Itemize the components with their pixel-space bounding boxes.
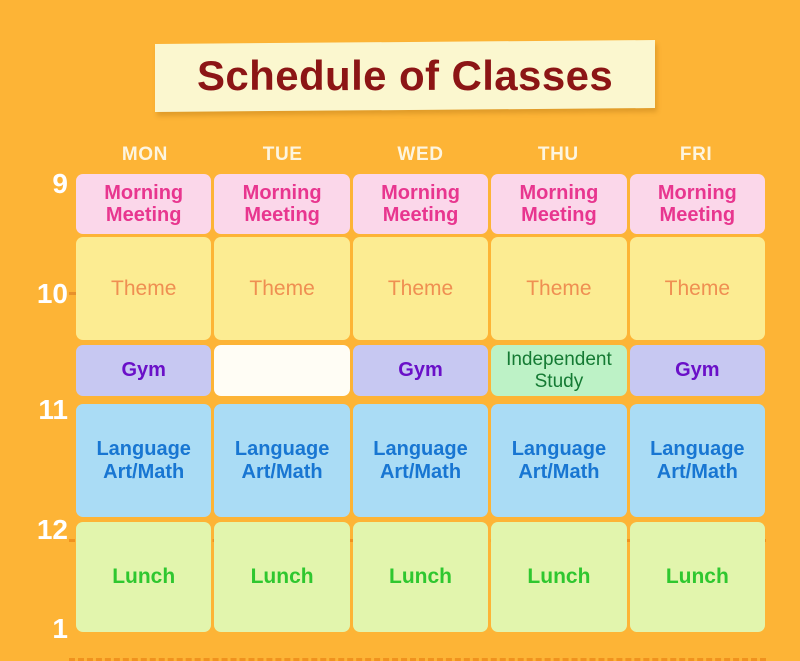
slot-label-line2: Art/Math: [103, 461, 184, 483]
slot-mon-gym[interactable]: Gym: [76, 345, 211, 396]
schedule-row-gym: Gym Gym Independent Study Gym: [76, 345, 765, 396]
hour-label-1: 1: [0, 615, 68, 643]
slot-mon-language-art-math[interactable]: Language Art/Math: [76, 404, 211, 517]
slot-thu-theme[interactable]: Theme: [491, 237, 626, 340]
slot-label-line1: Lunch: [527, 565, 590, 589]
slot-wed-language-art-math[interactable]: Language Art/Math: [353, 404, 488, 517]
slot-label-line2: Meeting: [244, 204, 320, 226]
title-banner: Schedule of Classes: [155, 40, 655, 112]
slot-mon-morning-meeting[interactable]: Morning Meeting: [76, 174, 211, 234]
slot-fri-theme[interactable]: Theme: [630, 237, 765, 340]
slot-label-line1: Morning: [381, 182, 460, 204]
schedule-row-lunch: Lunch Lunch Lunch Lunch Lunch: [76, 522, 765, 632]
slot-label-line1: Lunch: [666, 565, 729, 589]
slot-fri-morning-meeting[interactable]: Morning Meeting: [630, 174, 765, 234]
slot-label-line2: Meeting: [383, 204, 459, 226]
slot-thu-language-art-math[interactable]: Language Art/Math: [491, 404, 626, 517]
schedule-grid: MON TUE WED THU FRI 9 10 11 12 1 Morning…: [0, 140, 800, 632]
hour-label-11: 11: [0, 396, 68, 424]
slot-wed-lunch[interactable]: Lunch: [353, 522, 488, 632]
slot-label-line1: Gym: [121, 359, 165, 381]
slot-thu-lunch[interactable]: Lunch: [491, 522, 626, 632]
slot-fri-gym[interactable]: Gym: [630, 345, 765, 396]
slot-label-line1: Morning: [104, 182, 183, 204]
slot-thu-morning-meeting[interactable]: Morning Meeting: [491, 174, 626, 234]
slot-mon-theme[interactable]: Theme: [76, 237, 211, 340]
slot-label-line1: Language: [650, 438, 744, 460]
slot-mon-lunch[interactable]: Lunch: [76, 522, 211, 632]
slot-wed-morning-meeting[interactable]: Morning Meeting: [353, 174, 488, 234]
slot-label-line2: Art/Math: [518, 461, 599, 483]
schedule-row-language: Language Art/Math Language Art/Math Lang…: [76, 404, 765, 517]
slot-label-line1: Language: [96, 438, 190, 460]
slot-label-line1: Independent: [506, 349, 612, 370]
day-header-tue: TUE: [214, 140, 352, 170]
day-header-row: MON TUE WED THU FRI: [76, 140, 765, 170]
slot-tue-morning-meeting[interactable]: Morning Meeting: [214, 174, 349, 234]
slot-label-line1: Theme: [111, 277, 176, 301]
day-header-thu: THU: [489, 140, 627, 170]
slot-label-line1: Lunch: [251, 565, 314, 589]
slot-label-line1: Theme: [249, 277, 314, 301]
slot-tue-lunch[interactable]: Lunch: [214, 522, 349, 632]
slot-wed-theme[interactable]: Theme: [353, 237, 488, 340]
slot-label-line1: Lunch: [389, 565, 452, 589]
slot-label-line1: Morning: [658, 182, 737, 204]
slot-label-line1: Language: [373, 438, 467, 460]
schedule-row-morning: Morning Meeting Morning Meeting Morning …: [76, 174, 765, 234]
slot-label-line1: Morning: [519, 182, 598, 204]
day-header-mon: MON: [76, 140, 214, 170]
slot-label-line1: Morning: [243, 182, 322, 204]
slot-label-line1: Theme: [388, 277, 453, 301]
page-title: Schedule of Classes: [197, 55, 613, 97]
slot-label-line1: Language: [235, 438, 329, 460]
day-header-fri: FRI: [627, 140, 765, 170]
day-header-wed: WED: [352, 140, 490, 170]
slot-thu-independent-study[interactable]: Independent Study: [491, 345, 626, 396]
slot-fri-language-art-math[interactable]: Language Art/Math: [630, 404, 765, 517]
slot-tue-theme[interactable]: Theme: [214, 237, 349, 340]
slot-label-line1: Language: [512, 438, 606, 460]
slot-label-line2: Meeting: [660, 204, 736, 226]
hour-label-10: 10: [0, 280, 68, 308]
slot-label-line1: Lunch: [112, 565, 175, 589]
slot-label-line2: Meeting: [521, 204, 597, 226]
slot-fri-lunch[interactable]: Lunch: [630, 522, 765, 632]
slot-label-line2: Art/Math: [380, 461, 461, 483]
slot-label-line2: Meeting: [106, 204, 182, 226]
slot-wed-gym[interactable]: Gym: [353, 345, 488, 396]
slot-label-line1: Gym: [675, 359, 719, 381]
slot-label-line1: Theme: [526, 277, 591, 301]
slot-label-line2: Study: [535, 371, 584, 392]
schedule-row-theme: Theme Theme Theme Theme Theme: [76, 237, 765, 340]
hour-label-12: 12: [0, 516, 68, 544]
slot-tue-language-art-math[interactable]: Language Art/Math: [214, 404, 349, 517]
slot-label-line2: Art/Math: [657, 461, 738, 483]
slot-label-line1: Gym: [398, 359, 442, 381]
slot-label-line2: Art/Math: [242, 461, 323, 483]
slot-label-line1: Theme: [665, 277, 730, 301]
slot-tue-empty[interactable]: [214, 345, 349, 396]
hour-label-9: 9: [0, 170, 68, 198]
